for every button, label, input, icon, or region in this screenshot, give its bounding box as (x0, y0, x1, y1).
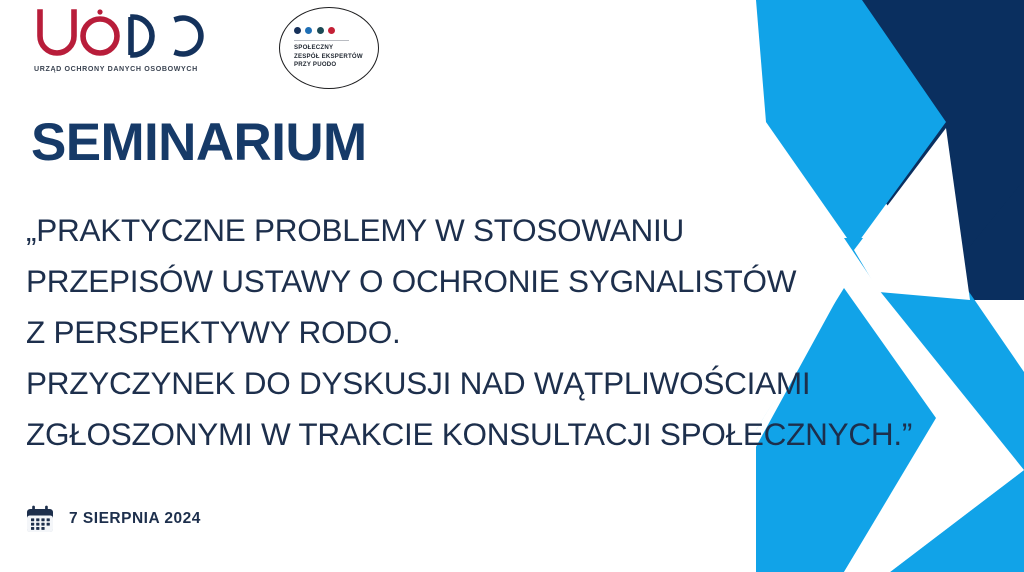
logo-dot-1 (294, 27, 301, 34)
subject-line-5: ZGŁOSZONYMI W TRAKCIE KONSULTACJI SPOŁEC… (26, 409, 1006, 460)
expert-panel-line-3: PRZY PUODO (294, 61, 370, 70)
logo-dot-2 (305, 27, 312, 34)
logo-row: URZĄD OCHRONY DANYCH OSOBOWYCH SPOŁECZNY… (30, 6, 388, 90)
white-mask-left (694, 0, 756, 90)
logo-dot-3 (317, 27, 324, 34)
event-date: 7 SIERPNIA 2024 (69, 510, 201, 528)
seminar-subject: „PRAKTYCZNE PROBLEMY W STOSOWANIU PRZEPI… (26, 205, 1006, 460)
logo-dots (294, 27, 335, 34)
calendar-icon (24, 503, 56, 535)
logo-dot-4 (328, 27, 335, 34)
page-title: SEMINARIUM (31, 116, 367, 169)
subject-line-1: „PRAKTYCZNE PROBLEMY W STOSOWANIU (26, 205, 1006, 256)
subject-line-3: Z PERSPEKTYWY RODO. (26, 307, 1006, 358)
seminar-poster: URZĄD OCHRONY DANYCH OSOBOWYCH SPOŁECZNY… (0, 0, 1024, 572)
uodo-wordmark-icon (30, 6, 226, 64)
subject-line-4: PRZYCZYNEK DO DYSKUSJI NAD WĄTPLIWOŚCIAM… (26, 358, 1006, 409)
expert-panel-logo: SPOŁECZNY ZESPÓŁ EKSPERTÓW PRZY PUODO (270, 6, 388, 90)
date-row: 7 SIERPNIA 2024 (24, 503, 201, 535)
subject-line-2: PRZEPISÓW USTAWY O OCHRONIE SYGNALISTÓW (26, 256, 1006, 307)
expert-panel-line-2: ZESPÓŁ EKSPERTÓW (294, 53, 370, 62)
logo-divider (294, 40, 349, 41)
expert-panel-text: SPOŁECZNY ZESPÓŁ EKSPERTÓW PRZY PUODO (294, 44, 370, 70)
uodo-logo: URZĄD OCHRONY DANYCH OSOBOWYCH (30, 6, 226, 73)
blue-corner-wedge (890, 470, 1024, 572)
expert-panel-line-1: SPOŁECZNY (294, 44, 370, 53)
uodo-subtitle: URZĄD OCHRONY DANYCH OSOBOWYCH (34, 65, 226, 73)
